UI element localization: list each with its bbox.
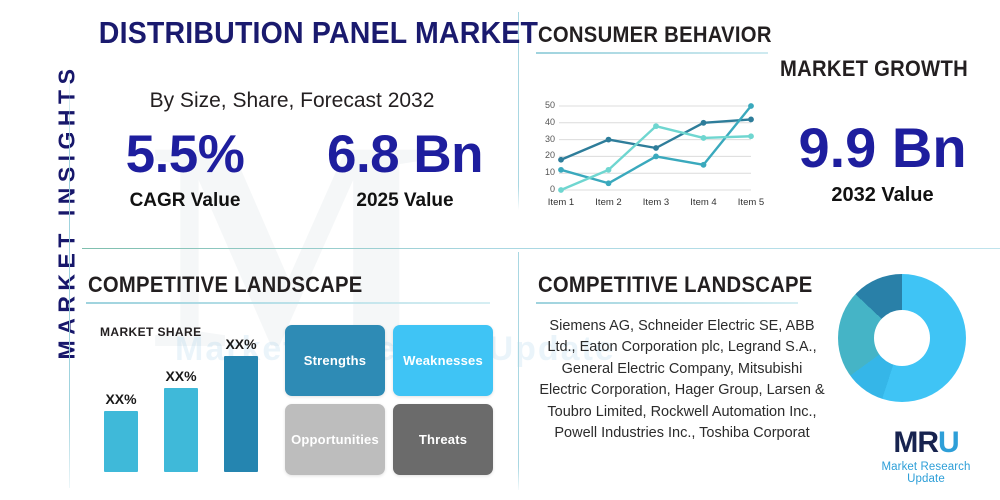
- kpi-2025: 6.8 Bn 2025 Value: [300, 128, 510, 212]
- swot-cell-threats[interactable]: Threats: [393, 404, 493, 475]
- line-point: [653, 123, 659, 129]
- logo-letter-m: M: [893, 426, 917, 459]
- page-subtitle: By Size, Share, Forecast 2032: [82, 89, 502, 113]
- kpi-2025-label: 2025 Value: [300, 190, 510, 212]
- line-point: [653, 154, 659, 160]
- line-point: [748, 103, 754, 109]
- kpi-cagr-label: CAGR Value: [100, 190, 270, 212]
- kpi-2032: 9.9 Bn 2032 Value: [770, 120, 995, 207]
- logo-letter-u: U: [938, 426, 959, 459]
- line-point: [748, 117, 754, 123]
- consumer-behavior-line-chart: 01020304050Item 1Item 2Item 3Item 4Item …: [535, 100, 755, 212]
- kpi-2025-value: 6.8 Bn: [300, 128, 510, 181]
- kpi-cagr: 5.5% CAGR Value: [100, 128, 270, 212]
- page-title: DISTRIBUTION PANEL MARKET: [99, 15, 485, 51]
- x-axis-tick-label: Item 2: [589, 197, 629, 208]
- bar-value-label: XX%: [216, 336, 266, 352]
- line-point: [606, 137, 612, 143]
- y-axis-tick-label: 10: [535, 167, 555, 177]
- line-point: [558, 157, 564, 163]
- kpi-2032-label: 2032 Value: [770, 184, 995, 207]
- logo-letter-r: R: [917, 426, 938, 459]
- left-rail: MARKET INSIGHTS: [6, 0, 68, 500]
- line-point: [653, 145, 659, 151]
- line-series-2: [561, 106, 751, 183]
- bar: [104, 411, 138, 472]
- swot-grid: StrengthsWeaknessesOpportunitiesThreats: [285, 325, 493, 475]
- line-point: [558, 167, 564, 173]
- bar: [224, 356, 258, 472]
- line-chart-svg: [535, 100, 755, 212]
- x-axis-tick-label: Item 5: [731, 197, 771, 208]
- infographic-canvas: M Market Research Update MARKET INSIGHTS…: [0, 0, 1000, 500]
- section-heading-consumer-behavior: CONSUMER BEHAVIOR: [538, 22, 772, 48]
- section-heading-competitive-landscape-left: COMPETITIVE LANDSCAPE: [88, 272, 363, 298]
- market-share-bar-chart: XX%XX%XX%: [100, 340, 268, 472]
- rail-divider: [69, 78, 70, 488]
- swot-cell-weaknesses[interactable]: Weaknesses: [393, 325, 493, 396]
- y-axis-tick-label: 0: [535, 184, 555, 194]
- x-axis-tick-label: Item 3: [636, 197, 676, 208]
- brand-logo: MRU Market Research Update: [862, 428, 990, 485]
- bar-value-label: XX%: [156, 368, 206, 384]
- company-list: Siemens AG, Schneider Electric SE, ABB L…: [536, 316, 828, 445]
- line-point: [606, 167, 612, 173]
- market-share-title: MARKET SHARE: [100, 325, 201, 339]
- y-axis-tick-label: 30: [535, 134, 555, 144]
- y-axis-tick-label: 50: [535, 100, 555, 110]
- bar: [164, 388, 198, 472]
- line-point: [701, 120, 707, 126]
- swot-cell-opportunities[interactable]: Opportunities: [285, 404, 385, 475]
- logo-tagline: Market Research Update: [862, 461, 990, 485]
- logo-wordmark: MRU: [862, 428, 990, 458]
- x-axis-tick-label: Item 1: [541, 197, 581, 208]
- vertical-divider-bottom: [518, 252, 519, 490]
- section-heading-competitive-landscape-right: COMPETITIVE LANDSCAPE: [538, 272, 813, 298]
- line-point: [606, 180, 612, 186]
- section-heading-market-growth: MARKET GROWTH: [780, 56, 968, 82]
- donut-hole: [874, 310, 930, 366]
- swot-cell-strengths[interactable]: Strengths: [285, 325, 385, 396]
- y-axis-tick-label: 20: [535, 150, 555, 160]
- kpi-cagr-value: 5.5%: [100, 128, 270, 181]
- competitive-landscape-right-underline: [536, 302, 798, 304]
- consumer-behavior-underline: [536, 52, 768, 54]
- y-axis-tick-label: 40: [535, 117, 555, 127]
- line-point: [558, 187, 564, 193]
- competitive-landscape-left-underline: [86, 302, 490, 304]
- competitive-donut-chart: [838, 274, 966, 402]
- kpi-2032-value: 9.9 Bn: [770, 120, 995, 176]
- x-axis-tick-label: Item 4: [684, 197, 724, 208]
- line-point: [701, 135, 707, 141]
- rail-label: MARKET INSIGHTS: [54, 47, 81, 377]
- horizontal-divider: [82, 248, 1000, 249]
- line-point: [748, 133, 754, 139]
- bar-value-label: XX%: [96, 391, 146, 407]
- line-point: [701, 162, 707, 168]
